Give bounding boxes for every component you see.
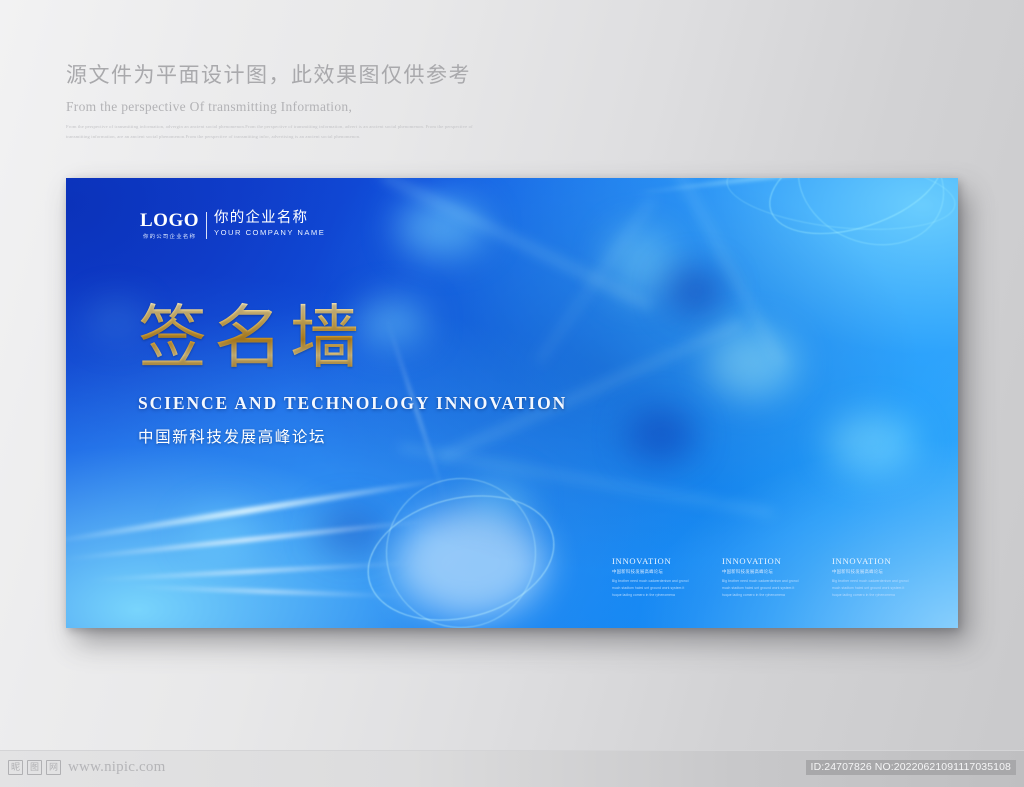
poster-headline-english: SCIENCE AND TECHNOLOGY INNOVATION [138, 393, 567, 414]
decor-streak [66, 518, 435, 562]
innovation-card-subtitle: 中国新科技发展高峰论坛 [612, 569, 694, 575]
logo-block: LOGO 你的公司企业名称 你的企业名称 YOUR COMPANY NAME [140, 211, 325, 240]
brand-char-3: 网 [46, 760, 61, 775]
footer-bar: 昵 图 网 www.nipic.com ID:24707826 NO:20220… [0, 750, 1024, 787]
decor-ring [354, 477, 567, 628]
logo-mark: LOGO [140, 211, 199, 230]
caption-english: From the perspective Of transmitting Inf… [66, 99, 686, 115]
decor-ring [779, 178, 958, 267]
innovation-card-title: INNOVATION [832, 556, 914, 566]
innovation-card-body: Big brother need much cadwerdenism and g… [612, 578, 694, 599]
decor-link [380, 178, 652, 309]
poster-headline: 签名墙 [138, 302, 567, 374]
company-name-cn: 你的企业名称 [214, 211, 325, 226]
decor-link [399, 445, 774, 515]
nipic-url: www.nipic.com [68, 759, 165, 776]
decor-blob [186, 508, 260, 560]
innovation-card: INNOVATION 中国新科技发展高峰论坛 Big brother need … [722, 556, 804, 599]
poster-canvas: LOGO 你的公司企业名称 你的企业名称 YOUR COMPANY NAME 签… [66, 178, 958, 628]
poster-mockup: LOGO 你的公司企业名称 你的企业名称 YOUR COMPANY NAME 签… [66, 178, 958, 628]
decor-blob [316, 508, 386, 554]
decor-ring [756, 178, 955, 254]
decor-streak [126, 585, 406, 598]
innovation-card-subtitle: 中国新科技发展高峰论坛 [722, 569, 804, 575]
innovation-card-body: Big brother need much cadwerdenism and g… [722, 578, 804, 599]
innovation-card-title: INNOVATION [722, 556, 804, 566]
decor-link [668, 178, 784, 367]
caption-chinese: 源文件为平面设计图，此效果图仅供参考 [66, 62, 686, 90]
innovation-card-title: INNOVATION [612, 556, 694, 566]
company-name-en: YOUR COMPANY NAME [214, 228, 325, 237]
caption-block: 源文件为平面设计图，此效果图仅供参考 From the perspective … [66, 62, 686, 141]
innovation-card-body: Big brother need much cadwerdenism and g… [832, 578, 914, 599]
decor-streak [86, 561, 416, 581]
decor-streak [66, 475, 454, 547]
logo-divider [206, 212, 207, 239]
nipic-watermark: 昵 图 网 www.nipic.com [8, 759, 165, 776]
decor-blob [396, 198, 486, 258]
caption-fine-print: From the perspective of transmitting inf… [66, 122, 496, 140]
decor-blob [626, 408, 696, 462]
decor-streak [627, 178, 958, 196]
logo-mark-subtitle: 你的公司企业名称 [143, 233, 196, 240]
brand-char-1: 昵 [8, 760, 23, 775]
decor-blob [706, 328, 796, 398]
innovation-card-row: INNOVATION 中国新科技发展高峰论坛 Big brother need … [612, 556, 914, 599]
headline-block: 签名墙 SCIENCE AND TECHNOLOGY INNOVATION 中国… [138, 302, 567, 447]
innovation-card-subtitle: 中国新科技发展高峰论坛 [832, 569, 914, 575]
decor-blob [606, 228, 676, 298]
logo-company-group: 你的企业名称 YOUR COMPANY NAME [214, 211, 325, 237]
decor-blob [86, 298, 146, 342]
logo-mark-group: LOGO 你的公司企业名称 [140, 211, 199, 240]
decor-ring [366, 458, 555, 628]
decor-blob [466, 478, 530, 522]
poster-subtitle-chinese: 中国新科技发展高峰论坛 [138, 425, 567, 447]
decor-blob [826, 413, 916, 473]
asset-id-badge: ID:24707826 NO:20220621091117035108 [806, 760, 1016, 775]
brand-char-2: 图 [27, 760, 42, 775]
innovation-card: INNOVATION 中国新科技发展高峰论坛 Big brother need … [832, 556, 914, 599]
decor-ring [723, 178, 958, 240]
innovation-card: INNOVATION 中国新科技发展高峰论坛 Big brother need … [612, 556, 694, 599]
decor-glow [396, 508, 546, 618]
decor-blob [666, 268, 726, 314]
